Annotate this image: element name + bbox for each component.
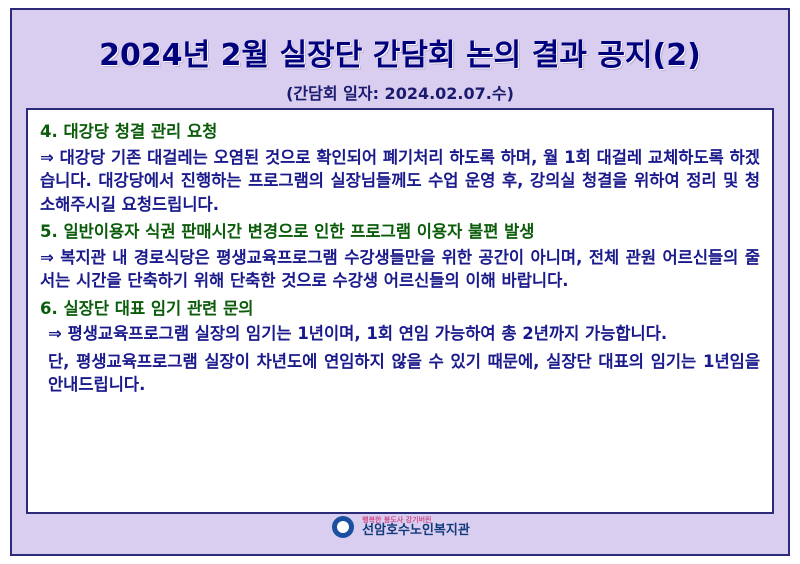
item-body: ⇒ 대강당 기존 대걸레는 오염된 것으로 확인되어 폐기처리 하도록 하며, … [40,146,760,216]
page-title: 2024년 2월 실장단 간담회 논의 결과 공지(2) [12,10,788,74]
item-heading: 6. 실장단 대표 임기 관련 문의 [40,297,760,322]
item-heading: 5. 일반이용자 식권 판매시간 변경으로 인한 프로그램 이용자 불편 발생 [40,220,760,245]
page-subtitle: (간담회 일자: 2024.02.07.수) [12,74,788,104]
organization-logo-icon [330,514,358,540]
list-item: 5. 일반이용자 식권 판매시간 변경으로 인한 프로그램 이용자 불편 발생 … [40,220,760,293]
item-body-secondary: 단, 평생교육프로그램 실장이 차년도에 연임하지 않을 수 있기 때문에, 실… [40,350,760,397]
logo-name: 선암호수노인복지관 [362,524,470,538]
slide-root: 2024년 2월 실장단 간담회 논의 결과 공지(2) (간담회 일자: 20… [0,0,800,564]
item-heading: 4. 대강당 청결 관리 요청 [40,120,760,145]
slide-frame: 2024년 2월 실장단 간담회 논의 결과 공지(2) (간담회 일자: 20… [10,8,790,556]
list-item: 6. 실장단 대표 임기 관련 문의 ⇒ 평생교육프로그램 실장의 임기는 1년… [40,297,760,397]
logo-wrap: 행복한 봉도사 강기버린 선암호수노인복지관 [330,514,470,540]
content-box: 4. 대강당 청결 관리 요청 ⇒ 대강당 기존 대걸레는 오염된 것으로 확인… [26,108,774,514]
list-item: 4. 대강당 청결 관리 요청 ⇒ 대강당 기존 대걸레는 오염된 것으로 확인… [40,120,760,216]
logo-text: 행복한 봉도사 강기버린 선암호수노인복지관 [362,517,470,538]
footer-logo: 행복한 봉도사 강기버린 선암호수노인복지관 [12,514,788,548]
item-body: ⇒ 평생교육프로그램 실장의 임기는 1년이며, 1회 연임 가능하여 총 2년… [40,322,760,345]
item-body: ⇒ 복지관 내 경로식당은 평생교육프로그램 수강생들만을 위한 공간이 아니며… [40,246,760,293]
title-area: 2024년 2월 실장단 간담회 논의 결과 공지(2) (간담회 일자: 20… [12,10,788,102]
